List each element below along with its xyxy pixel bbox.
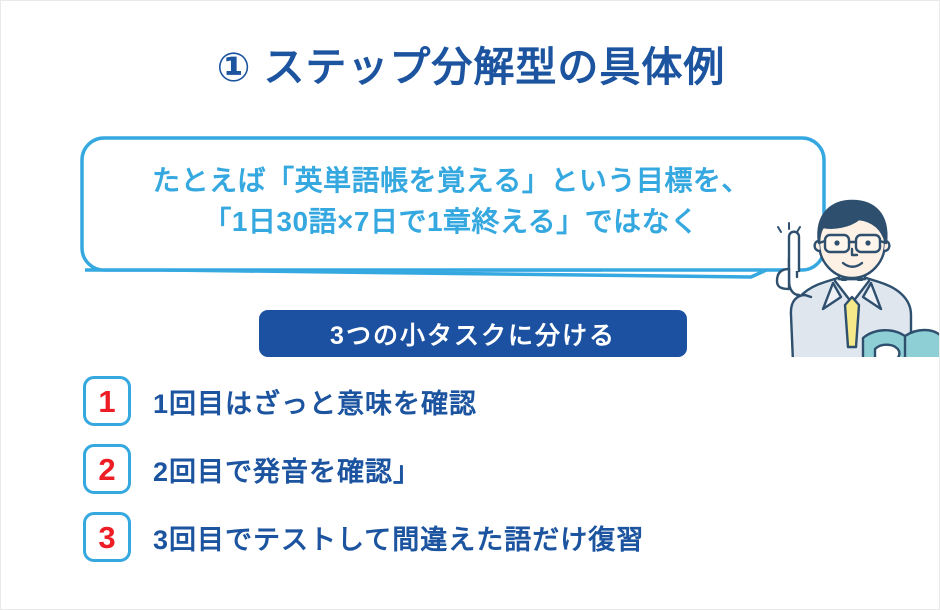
step-number-box-1: 1 bbox=[83, 376, 131, 426]
hand-holding-book bbox=[875, 345, 899, 357]
step-number-2: 2 bbox=[98, 454, 115, 485]
speech-bubble-line-2: 「1日30語×7日で1章終える」ではなく bbox=[91, 202, 811, 243]
teacher-illustration bbox=[763, 197, 940, 357]
step-number-box-2: 2 bbox=[83, 444, 131, 494]
list-item: 1 1回目はざっと意味を確認 bbox=[83, 375, 883, 427]
eye-right bbox=[865, 240, 870, 245]
list-item: 2 2回目で発音を確認」 bbox=[83, 443, 883, 495]
index-finger bbox=[789, 232, 799, 271]
title-number-marker: ① bbox=[217, 46, 252, 90]
steps-list: 1 1回目はざっと意味を確認 2 2回目で発音を確認」 3 3回目でテストして間… bbox=[83, 375, 883, 579]
list-item: 3 3回目でテストして間違えた語だけ復習 bbox=[83, 511, 883, 563]
eye-left bbox=[834, 240, 839, 245]
fist-knuckles bbox=[777, 269, 789, 289]
step-text-2: 2回目で発音を確認」 bbox=[153, 450, 421, 489]
step-number-3: 3 bbox=[98, 522, 115, 553]
speech-bubble-line-1: たとえば「英単語帳を覚える」という目標を、 bbox=[91, 161, 811, 202]
step-number-1: 1 bbox=[98, 386, 115, 417]
subtask-banner: 3つの小タスクに分ける bbox=[259, 310, 687, 357]
step-number-box-3: 3 bbox=[83, 512, 131, 562]
page-title: ①ステップ分解型の具体例 bbox=[1, 43, 940, 92]
subtask-banner-label: 3つの小タスクに分ける bbox=[330, 316, 616, 352]
sparkle-icon bbox=[778, 223, 800, 232]
necktie bbox=[845, 297, 859, 347]
title-text: ステップ分解型の具体例 bbox=[263, 44, 725, 90]
step-text-1: 1回目はざっと意味を確認 bbox=[153, 382, 477, 421]
step-text-3: 3回目でテストして間違えた語だけ復習 bbox=[153, 518, 644, 557]
slide-canvas: ①ステップ分解型の具体例 たとえば「英単語帳を覚える」という目標を、 「1日30… bbox=[0, 0, 940, 610]
speech-bubble-text: たとえば「英単語帳を覚える」という目標を、 「1日30語×7日で1章終える」では… bbox=[91, 161, 811, 242]
